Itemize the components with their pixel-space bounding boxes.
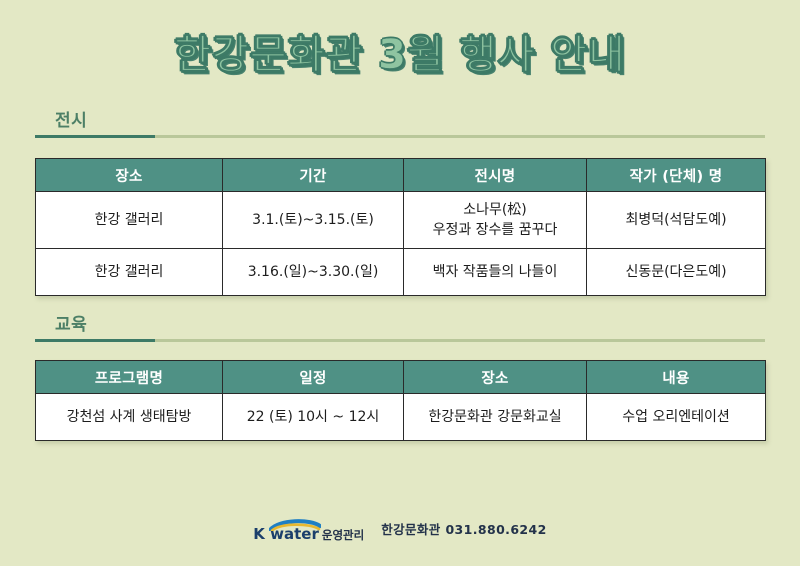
column-header-place: 장소 xyxy=(404,361,587,394)
section-label-education: 교육 xyxy=(35,316,765,335)
column-header-program-name: 프로그램명 xyxy=(36,361,223,394)
footer-contact: 한강문화관 031.880.6242 xyxy=(373,524,547,537)
cell-artist: 신동문(다은도예) xyxy=(587,249,766,296)
kwater-arc-icon xyxy=(269,518,321,531)
column-header-place: 장소 xyxy=(36,159,223,192)
page-title-wrap: 한강문화관 3월 행사 안내 xyxy=(0,22,800,80)
column-header-exhibition-name: 전시명 xyxy=(404,159,587,192)
section-education: 교육 xyxy=(35,316,765,342)
footer: K water 운영관리 한강문화관 031.880.6242 xyxy=(0,518,800,542)
column-header-period: 기간 xyxy=(223,159,404,192)
section-rule-exhibition xyxy=(35,135,765,138)
cell-period: 3.16.(일)~3.30.(일) xyxy=(223,249,404,296)
cell-exhibition-name: 소나무(松) 우정과 장수를 꿈꾸다 xyxy=(404,192,587,249)
cell-schedule: 22 (토) 10시 ~ 12시 xyxy=(223,394,404,441)
table-row: 한강 갤러리 3.16.(일)~3.30.(일) 백자 작품들의 나들이 신동문… xyxy=(36,249,766,296)
cell-period: 3.1.(토)~3.15.(토) xyxy=(223,192,404,249)
column-header-artist: 작가 (단체) 명 xyxy=(587,159,766,192)
cell-artist: 최병덕(석담도예) xyxy=(587,192,766,249)
cell-content: 수업 오리엔테이션 xyxy=(587,394,766,441)
table-header-row: 장소 기간 전시명 작가 (단체) 명 xyxy=(36,159,766,192)
table-header-row: 프로그램명 일정 장소 내용 xyxy=(36,361,766,394)
kwater-logo: K water 운영관리 xyxy=(253,518,364,542)
page-title: 한강문화관 3월 행사 안내 xyxy=(174,22,626,80)
table-row: 한강 갤러리 3.1.(토)~3.15.(토) 소나무(松) 우정과 장수를 꿈… xyxy=(36,192,766,249)
cell-place: 한강 갤러리 xyxy=(36,249,223,296)
cell-place: 한강 갤러리 xyxy=(36,192,223,249)
cell-place: 한강문화관 강문화교실 xyxy=(404,394,587,441)
section-exhibition: 전시 xyxy=(35,112,765,138)
table-row: 강천섬 사계 생태탐방 22 (토) 10시 ~ 12시 한강문화관 강문화교실… xyxy=(36,394,766,441)
kwater-logo-subtitle: 운영관리 xyxy=(322,530,364,543)
column-header-content: 내용 xyxy=(587,361,766,394)
education-table: 프로그램명 일정 장소 내용 강천섬 사계 생태탐방 22 (토) 10시 ~ … xyxy=(35,360,766,441)
poster-root: 한강문화관 3월 행사 안내 전시 장소 기간 전시명 작가 (단체) 명 한강… xyxy=(0,0,800,566)
exhibition-table: 장소 기간 전시명 작가 (단체) 명 한강 갤러리 3.1.(토)~3.15.… xyxy=(35,158,766,296)
section-label-exhibition: 전시 xyxy=(35,112,765,131)
section-rule-education xyxy=(35,339,765,342)
column-header-schedule: 일정 xyxy=(223,361,404,394)
cell-exhibition-name: 백자 작품들의 나들이 xyxy=(404,249,587,296)
cell-program-name: 강천섬 사계 생태탐방 xyxy=(36,394,223,441)
